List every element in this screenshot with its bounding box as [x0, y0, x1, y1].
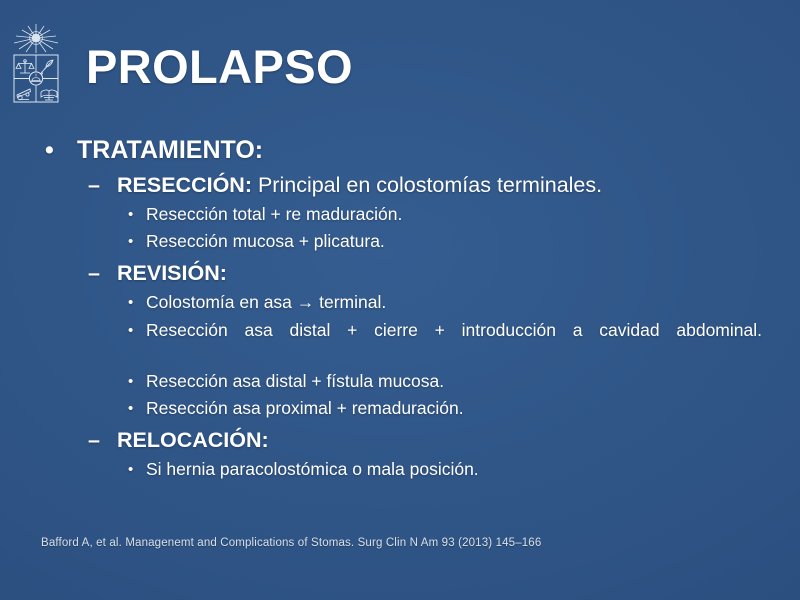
- bullet-dash-icon: –: [88, 427, 100, 455]
- bullet-level3-item: • Si hernia paracolostómica o mala posic…: [40, 458, 762, 481]
- bullet-level3-text: Resección asa proximal + remaduración.: [146, 398, 464, 418]
- bullet-small-dot-icon: •: [128, 458, 133, 481]
- bullet-dash-icon: –: [88, 260, 100, 288]
- bullet-level3-item: • Resección asa distal + cierre + introd…: [40, 319, 762, 366]
- slide-title: PROLAPSO: [86, 42, 353, 91]
- bullet-level2-relocacion: – RELOCACIÓN:: [40, 427, 762, 455]
- bullet-level2-reseccion: – RESECCIÓN: Principal en colostomías te…: [40, 172, 762, 200]
- bullet-small-dot-icon: •: [128, 319, 133, 342]
- bullet-level3-item: • Resección asa distal + fístula mucosa.: [40, 370, 762, 393]
- bullet-level3-text: Resección mucosa + plicatura.: [146, 231, 385, 251]
- bullet-level2-label: RELOCACIÓN:: [117, 428, 269, 452]
- source-citation: Bafford A, et al. Managenemt and Complic…: [41, 537, 541, 549]
- bullet-dot-icon: •: [45, 135, 54, 166]
- universidad-de-chile-crest-icon: [8, 22, 64, 106]
- bullet-level3-text: Resección asa distal + cierre + introduc…: [146, 319, 762, 366]
- bullet-level2-revision: – REVISIÓN:: [40, 260, 762, 288]
- bullet-level3-item: • Colostomía en asa → terminal.: [40, 291, 762, 314]
- bullet-level3-text: Si hernia paracolostómica o mala posició…: [146, 459, 479, 479]
- bullet-small-dot-icon: •: [128, 397, 133, 420]
- bullet-level3-text: Resección asa distal + fístula mucosa.: [146, 371, 444, 391]
- bullet-level1-tratamiento: • TRATAMIENTO:: [40, 135, 762, 166]
- presentation-slide: PROLAPSO • TRATAMIENTO: – RESECCIÓN: Pri…: [0, 0, 800, 600]
- bullet-dash-icon: –: [88, 172, 100, 200]
- bullet-level3-text: Resección total + re maduración.: [146, 204, 402, 224]
- bullet-small-dot-icon: •: [128, 370, 133, 393]
- bullet-level3-text: Colostomía en asa → terminal.: [146, 292, 386, 312]
- bullet-level3-item: • Resección asa proximal + remaduración.: [40, 397, 762, 420]
- bullet-small-dot-icon: •: [128, 203, 133, 226]
- bullet-level2-detail: Principal en colostomías terminales.: [252, 173, 602, 197]
- bullet-small-dot-icon: •: [128, 230, 133, 253]
- bullet-small-dot-icon: •: [128, 291, 133, 314]
- bullet-level1-label: TRATAMIENTO:: [77, 136, 263, 164]
- bullet-level2-label: RESECCIÓN:: [117, 173, 252, 197]
- bullet-level3-item: • Resección mucosa + plicatura.: [40, 230, 762, 253]
- bullet-level2-label: REVISIÓN:: [117, 261, 227, 285]
- bullet-level3-item: • Resección total + re maduración.: [40, 203, 762, 226]
- slide-body: • TRATAMIENTO: – RESECCIÓN: Principal en…: [40, 135, 762, 482]
